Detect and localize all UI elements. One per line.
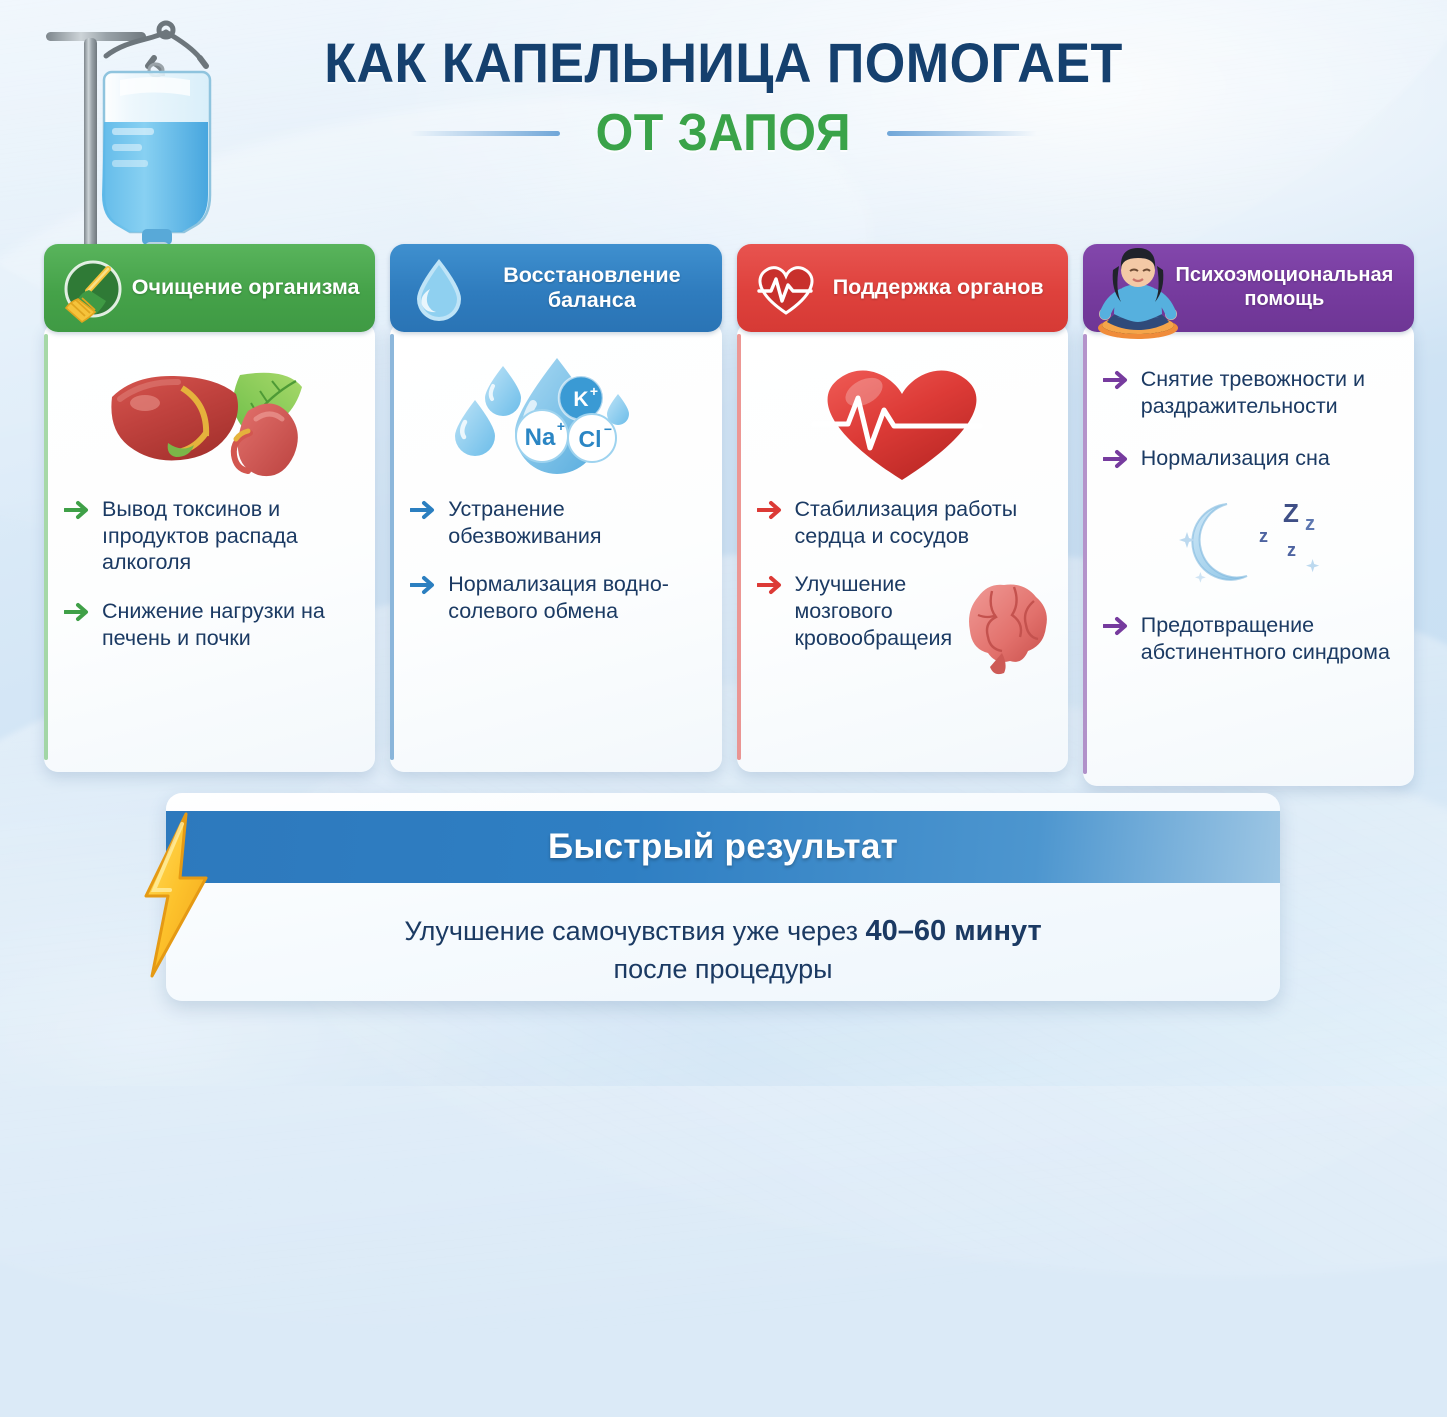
svg-text:K: K (573, 388, 588, 411)
svg-text:Cl: Cl (578, 426, 601, 452)
banner-text-after: после процедуры (613, 954, 832, 984)
arrow-right-icon (64, 602, 90, 627)
bullets-cleansing: Вывод токсинов и ıпродуктов распада алко… (56, 496, 363, 651)
card-header-balance: Восстановление баланса (390, 244, 721, 332)
liver-kidney-icon (56, 352, 363, 492)
heart-ecg-icon (749, 352, 1056, 492)
card-header-psycho: Психоэмоциональная помощь (1083, 244, 1414, 332)
card-body-cleansing: Вывод токсинов и ıпродуктов распада алко… (44, 322, 375, 772)
benefit-cards-row: Очищение организма (44, 244, 1414, 744)
svg-text:+: + (557, 418, 565, 434)
bullet-text: Снятие тревожности и раздражительности (1141, 366, 1398, 419)
bullet-item: Снятие тревожности и раздражительности (1103, 366, 1398, 419)
svg-text:z: z (1287, 540, 1296, 560)
bullet-item: Устранение обезвоживания (410, 496, 705, 549)
bullet-item: Стабилизация работы сердца и сосудов (757, 496, 1052, 549)
card-psycho[interactable]: Психоэмоциональная помощь Снятие тревожн… (1083, 244, 1414, 744)
banner-header: Быстрый результат (166, 811, 1280, 883)
bullet-item: Нормализация водно-солевого обмена (410, 571, 705, 624)
card-organs[interactable]: Поддержка органов (737, 244, 1068, 744)
card-title-psycho: Психоэмоциональная помощь (1169, 264, 1400, 311)
svg-text:−: − (604, 421, 612, 437)
broom-icon (56, 251, 130, 325)
arrow-right-icon (410, 500, 436, 525)
electrolyte-drops-icon: K + Na + Cl − (402, 352, 709, 492)
lightning-bolt-icon (128, 810, 218, 980)
card-cleansing[interactable]: Очищение организма (44, 244, 375, 744)
bullets-balance: Устранение обезвоживания Нормализация во… (402, 496, 709, 625)
brain-icon (948, 575, 1058, 680)
bullet-text: Вывод токсинов и ıпродуктов распада алко… (102, 496, 359, 576)
bullet-item: Нормализация сна (1103, 445, 1398, 474)
bullet-text: Снижение нагрузки на печень и почки (102, 598, 359, 651)
bullet-item: Вывод токсинов и ıпродуктов распада алко… (64, 496, 359, 576)
arrow-right-icon (64, 500, 90, 525)
card-balance[interactable]: Восстановление баланса (390, 244, 721, 744)
title-subtitle-row: ОТ ЗАПОЯ (0, 103, 1447, 163)
bullet-item: Снижение нагрузки на печень и почки (64, 598, 359, 651)
svg-text:Z: Z (1283, 498, 1299, 528)
bullet-text: Предотвращение абстинентного синдрома (1141, 612, 1398, 665)
banner-title: Быстрый результат (548, 827, 898, 867)
svg-text:+: + (590, 383, 598, 399)
bullet-item: Улучшение мозгового кровообращеия (757, 571, 1052, 651)
card-title-balance: Восстановление баланса (476, 263, 707, 314)
card-header-organs: Поддержка органов (737, 244, 1068, 332)
svg-text:z: z (1305, 513, 1315, 535)
meditating-woman-icon (1095, 244, 1169, 318)
title-main: КАК КАПЕЛЬНИЦА ПОМОГАЕТ (51, 34, 1397, 91)
banner-description: Улучшение самочувствия уже через 40–60 м… (166, 911, 1280, 988)
bullet-text: Устранение обезвоживания (448, 496, 705, 549)
arrow-right-icon (1103, 370, 1129, 395)
arrow-right-icon (1103, 449, 1129, 474)
svg-text:Na: Na (525, 424, 556, 451)
title-sub: ОТ ЗАПОЯ (596, 103, 851, 163)
bullets-organs: Стабилизация работы сердца и сосудов Улу… (749, 496, 1056, 651)
title-rule-left (410, 131, 560, 136)
page-title: КАК КАПЕЛЬНИЦА ПОМОГАЕТ ОТ ЗАПОЯ (0, 34, 1447, 163)
moon-zzz-icon: Z z z z (1103, 494, 1398, 590)
bullet-text: Стабилизация работы сердца и сосудов (795, 496, 1052, 549)
arrow-right-icon (1103, 616, 1129, 641)
heart-pulse-icon (749, 251, 823, 325)
svg-text:z: z (1259, 526, 1268, 546)
arrow-right-icon (410, 575, 436, 600)
fast-result-banner: Быстрый результат Улучшение самочувствия… (166, 793, 1280, 1001)
card-title-organs: Поддержка органов (823, 275, 1054, 300)
banner-highlight: 40–60 минут (866, 915, 1042, 947)
bullet-text: Нормализация водно-солевого обмена (448, 571, 705, 624)
water-drop-icon (402, 251, 476, 325)
bullet-item: Предотвращение абстинентного синдрома (1103, 612, 1398, 665)
card-body-organs: Стабилизация работы сердца и сосудов Улу… (737, 322, 1068, 772)
arrow-right-icon (757, 575, 783, 600)
card-body-balance: K + Na + Cl − (390, 322, 721, 772)
title-rule-right (887, 131, 1037, 136)
bullet-text: Нормализация сна (1141, 445, 1330, 472)
bullets-psycho: Снятие тревожности и раздражительности Н… (1095, 366, 1402, 666)
card-title-cleansing: Очищение организма (130, 275, 361, 300)
arrow-right-icon (757, 500, 783, 525)
card-header-cleansing: Очищение организма (44, 244, 375, 332)
card-body-psycho: Снятие тревожности и раздражительности Н… (1083, 322, 1414, 786)
banner-text-before: Улучшение самочувствия уже через (404, 916, 858, 946)
